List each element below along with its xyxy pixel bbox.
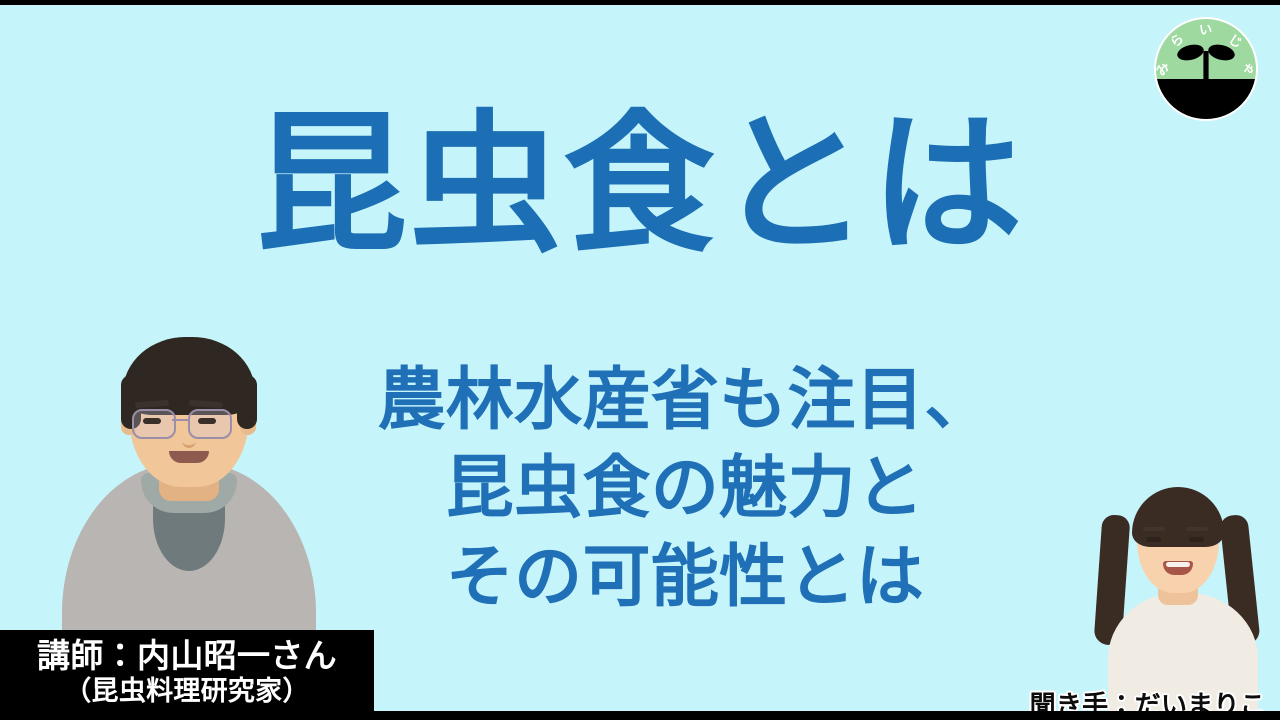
channel-logo[interactable]: み ら い じ ゃ — [1152, 15, 1260, 123]
letterbox-top — [0, 0, 1280, 5]
interviewer-eyebrow-right — [1186, 527, 1208, 531]
sprout-logo-icon: み ら い じ ゃ — [1152, 15, 1260, 123]
speaker-nose — [182, 433, 196, 448]
interviewer-eye-right — [1189, 537, 1204, 542]
speaker-caption-name: 講師：内山昭一さん — [37, 638, 337, 675]
interviewer-eyebrow-left — [1143, 527, 1165, 531]
speaker-glasses-bridge — [172, 419, 188, 421]
speaker-photo — [28, 323, 350, 657]
subtitle-line-3: その可能性とは — [290, 534, 1080, 622]
interviewer-caption: 聞き手：だいまりこ — [1030, 685, 1266, 711]
speaker-eye-left — [143, 418, 161, 424]
speaker-eye-right — [198, 418, 216, 424]
logo-arc-char-3: い — [1199, 23, 1213, 39]
page-title: 昆虫食とは — [0, 103, 1280, 267]
subtitle-block: 農林水産省も注目、 昆虫食の魅力と その可能性とは — [290, 357, 1080, 622]
video-frame: 昆虫食とは 農林水産省も注目、 昆虫食の魅力と その可能性とは — [0, 0, 1280, 720]
letterbox-bottom — [0, 711, 1280, 720]
slide-stage: 昆虫食とは 農林水産省も注目、 昆虫食の魅力と その可能性とは — [0, 5, 1280, 711]
interviewer-eye-left — [1146, 537, 1161, 542]
speaker-caption-role: （昆虫料理研究家） — [64, 677, 309, 707]
speaker-mouth — [169, 451, 209, 463]
subtitle-line-2: 昆虫食の魅力と — [290, 445, 1080, 533]
speaker-glasses-left-lens — [132, 409, 176, 439]
subtitle-line-1: 農林水産省も注目、 — [290, 357, 1080, 445]
interviewer-photo — [1078, 475, 1278, 711]
speaker-caption: 講師：内山昭一さん （昆虫料理研究家） — [0, 630, 374, 711]
